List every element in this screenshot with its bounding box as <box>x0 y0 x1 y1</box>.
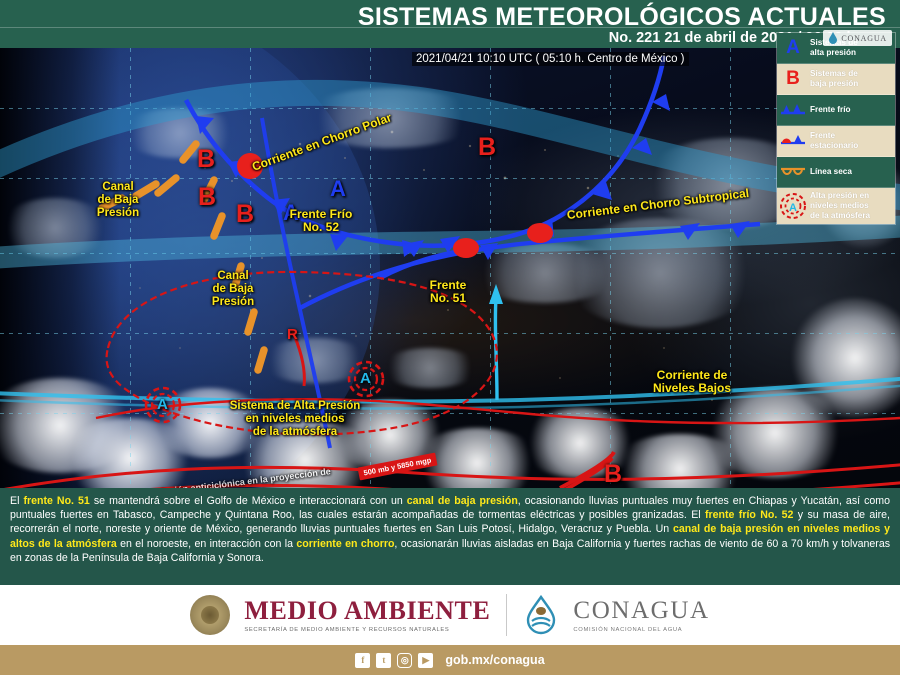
mid-level-high-A-1: A <box>157 396 168 413</box>
legend-label-frente-frio: Frente frío <box>809 102 855 118</box>
map-label-canal-baja-presion-noroeste: Canal de Baja Presión <box>78 181 158 220</box>
page-title: SISTEMAS METEOROLÓGICOS ACTUALES <box>358 3 886 32</box>
legend-item-baja-presion[interactable]: B Sistemas de baja presión <box>777 64 895 95</box>
instagram-icon[interactable]: ◎ <box>397 653 412 668</box>
map-label-sistema-alta-presion: Sistema de Alta Presión en niveles medio… <box>200 400 390 439</box>
facebook-icon[interactable]: f <box>355 653 370 668</box>
cold-front-icon <box>777 95 809 125</box>
page-header: SISTEMAS METEOROLÓGICOS ACTUALES No. 221… <box>0 0 900 48</box>
conagua-drop-icon <box>828 32 838 44</box>
svg-text:A: A <box>789 202 797 214</box>
legend-label-alta-niveles-medios: Alta presión en niveles medios de la atm… <box>809 188 874 224</box>
jet-stream-ribbons <box>0 93 900 409</box>
low-pressure-marker-5: B <box>604 460 622 488</box>
twitter-icon[interactable]: t <box>376 653 391 668</box>
weather-annotation-overlay <box>0 48 900 488</box>
summary-paragraph: El frente No. 51 se mantendrá sobre el G… <box>10 495 890 564</box>
legend-label-linea-seca: Línea seca <box>809 164 856 180</box>
footer-social-bar: f t ◎ ▶ gob.mx/conagua <box>0 645 900 675</box>
legend-label-baja-presion: Sistemas de baja presión <box>809 66 862 92</box>
stationary-front-icon <box>777 126 809 156</box>
low-pressure-marker-3: B <box>236 200 254 229</box>
map-label-frente-frio-52: Frente Frío No. 52 <box>275 208 367 235</box>
map-label-corriente-niveles-bajos: Corriente de Niveles Bajos <box>637 369 747 396</box>
semarnat-logo: MEDIO AMBIENTE SECRETARÍA DE MEDIO AMBIE… <box>190 595 490 635</box>
conagua-watermark: CONAGUA <box>823 30 892 46</box>
legend-item-frente-frio[interactable]: Frente frío <box>777 95 895 126</box>
conagua-logo: CONAGUA COMISIÓN NACIONAL DEL AGUA <box>523 595 709 635</box>
weather-bulletin-page: SISTEMAS METEOROLÓGICOS ACTUALES No. 221… <box>0 0 900 675</box>
youtube-icon[interactable]: ▶ <box>418 653 433 668</box>
low-level-jet-arrow <box>489 284 503 400</box>
logo-divider <box>506 594 507 636</box>
satellite-weather-map: B B B B B A A A A R Canal de Baja Presió… <box>0 48 900 488</box>
itcz-lines <box>0 464 900 488</box>
footer-logos: MEDIO AMBIENTE SECRETARÍA DE MEDIO AMBIE… <box>0 585 900 645</box>
surface-trough-R: R <box>287 326 298 343</box>
conagua-title: CONAGUA <box>573 598 709 623</box>
legend-item-frente-estacionario[interactable]: Frente estacionario <box>777 126 895 157</box>
legend-item-alta-niveles-medios[interactable]: A Alta presión en niveles medios de la a… <box>777 188 895 224</box>
legend-label-frente-estacionario: Frente estacionario <box>809 128 862 154</box>
mexico-eagle-seal-icon <box>190 595 230 635</box>
conagua-watermark-label: CONAGUA <box>841 34 887 43</box>
forecast-summary-text: El frente No. 51 se mantendrá sobre el G… <box>0 488 900 585</box>
conagua-subtitle: COMISIÓN NACIONAL DEL AGUA <box>573 627 709 633</box>
mid-level-high-A-2: A <box>360 370 371 387</box>
semarnat-title: MEDIO AMBIENTE <box>244 598 490 624</box>
gob-url-label: gob.mx/conagua <box>445 653 544 667</box>
map-label-frente-51: Frente No. 51 <box>412 279 484 306</box>
high-pressure-marker-1: A <box>330 176 346 202</box>
high-pressure-A-icon: A <box>777 33 809 63</box>
timestamp-overlay: 2021/04/21 10:10 UTC ( 05:10 h. Centro d… <box>412 52 689 66</box>
low-pressure-marker-4: B <box>478 133 496 162</box>
conagua-wave-icon <box>523 595 559 635</box>
semarnat-subtitle: SECRETARÍA DE MEDIO AMBIENTE Y RECURSOS … <box>244 627 490 633</box>
low-pressure-marker-1: B <box>197 145 215 174</box>
dry-line-icon <box>777 157 809 187</box>
low-pressure-marker-2: B <box>198 183 216 212</box>
mid-level-high-icon: A <box>777 191 809 221</box>
low-pressure-B-icon: B <box>777 64 809 94</box>
map-legend: A Sistemas de alta presión B Sistemas de… <box>776 32 896 225</box>
map-label-canal-baja-presion-centro: Canal de Baja Presión <box>193 270 273 309</box>
legend-item-linea-seca[interactable]: Línea seca <box>777 157 895 188</box>
